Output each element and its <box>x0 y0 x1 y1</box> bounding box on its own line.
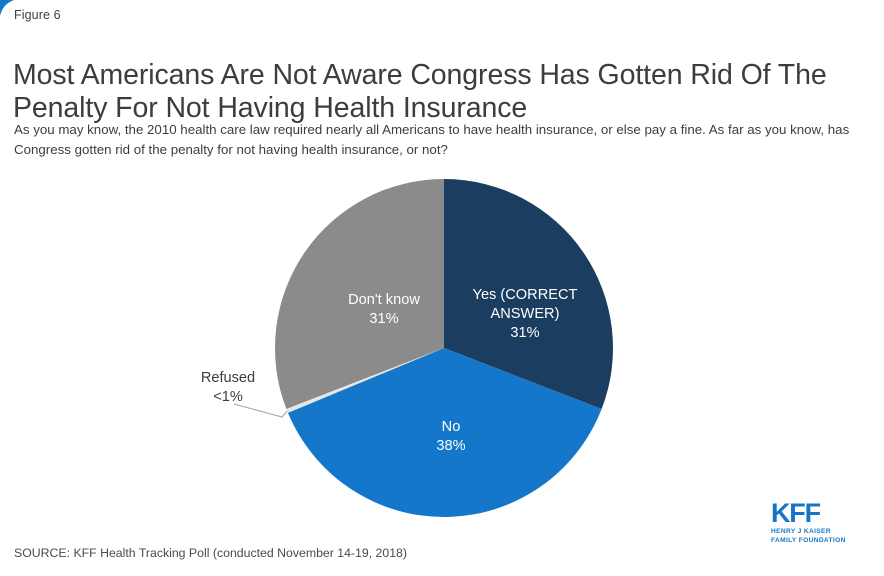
pie-label-no-value: 38% <box>436 438 465 454</box>
page-title: Most Americans Are Not Aware Congress Ha… <box>13 59 869 125</box>
chart-subtitle: As you may know, the 2010 health care la… <box>14 120 870 159</box>
kff-logo-line2: FAMILY FOUNDATION <box>771 537 871 545</box>
kff-logo-line1: HENRY J KAISER <box>771 528 871 536</box>
source-note: SOURCE: KFF Health Tracking Poll (conduc… <box>14 546 407 560</box>
pie-label-refused-value: <1% <box>213 389 243 405</box>
pie-chart: Yes (CORRECT ANSWER) 31% Don't know 31% … <box>0 165 884 525</box>
pie-label-dont-know: Don't know <box>348 292 420 308</box>
pie-label-yes-line2: ANSWER) <box>491 306 560 322</box>
pie-label-yes-line1: Yes (CORRECT <box>473 287 578 303</box>
pie-label-yes-value: 31% <box>510 325 539 341</box>
pie-label-dont-know-value: 31% <box>369 311 398 327</box>
refused-leader-line <box>234 404 287 417</box>
pie-chart-svg: Yes (CORRECT ANSWER) 31% Don't know 31% … <box>0 165 884 525</box>
pie-label-refused: Refused <box>201 370 255 386</box>
kff-logo: KFF HENRY J KAISER FAMILY FOUNDATION <box>771 500 871 552</box>
figure-label: Figure 6 <box>14 8 61 22</box>
pie-label-no: No <box>442 419 461 435</box>
kff-wordmark: KFF <box>771 500 871 527</box>
